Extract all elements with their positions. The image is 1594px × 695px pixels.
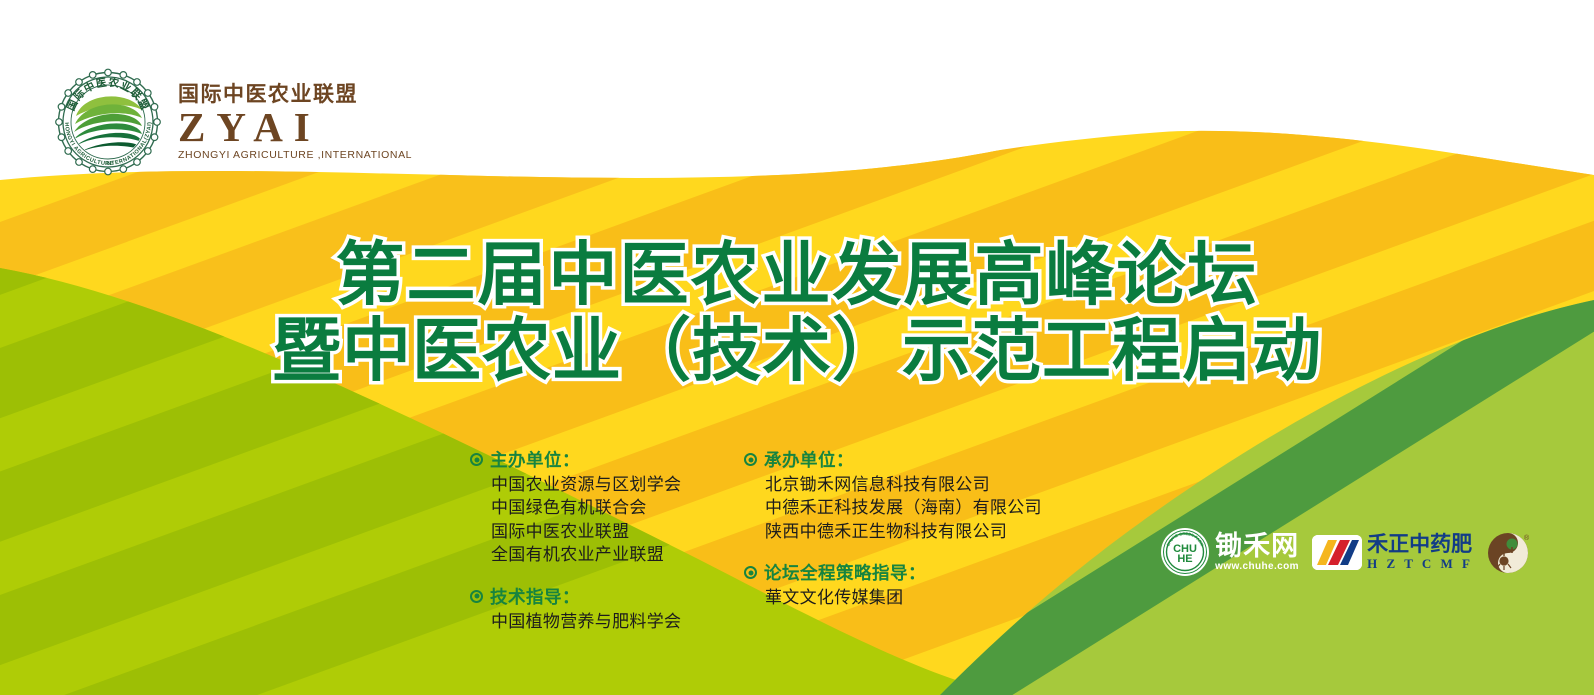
logo-wordmark: 国际中医农业联盟 ZYAI ZHONGYI AGRICULTURE ,INTER… bbox=[178, 84, 412, 160]
group-item-list: 華文文化传媒集团 bbox=[744, 587, 1044, 610]
group-heading-row: 论坛全程策略指导： bbox=[744, 560, 1044, 585]
group-heading-label: 主办单位： bbox=[490, 447, 580, 472]
list-item: 華文文化传媒集团 bbox=[765, 587, 1044, 610]
group-co-organizers: 承办单位： 北京锄禾网信息科技有限公司 中德禾正科技发展（海南）有限公司 陕西中… bbox=[744, 447, 1044, 544]
chuhe-url: www.chuhe.com bbox=[1215, 562, 1299, 572]
group-heading-row: 承办单位： bbox=[744, 447, 1044, 472]
group-item-list: 中国植物营养与肥料学会 bbox=[470, 611, 732, 634]
group-heading-row: 技术指导： bbox=[470, 584, 732, 609]
hztcmf-mark-icon bbox=[1312, 535, 1362, 570]
group-host-organizers: 主办单位： 中国农业资源与区划学会 中国绿色有机联合会 国际中医农业联盟 全国有… bbox=[470, 447, 732, 568]
bullet-icon bbox=[470, 453, 483, 466]
organizers-info: 主办单位： 中国农业资源与区划学会 中国绿色有机联合会 国际中医农业联盟 全国有… bbox=[470, 447, 1044, 634]
sponsor-logos: CHUHE GREEN FARM CHU HE 锄禾网 www.chuhe.co… bbox=[1161, 528, 1532, 576]
tree-root-mark-icon: ® bbox=[1486, 529, 1532, 575]
trademark-symbol: ® bbox=[1524, 534, 1530, 542]
bullet-icon bbox=[744, 453, 757, 466]
sponsor-tree-root: ® bbox=[1486, 529, 1532, 575]
organization-logo: 国际中医农业联盟 ZHONGYI AGRICULTURE INTERNATION… bbox=[52, 66, 412, 178]
zyai-seal-icon: 国际中医农业联盟 ZHONGYI AGRICULTURE INTERNATION… bbox=[52, 66, 164, 178]
hztcmf-name-cn: 禾正中药肥 bbox=[1367, 534, 1473, 555]
logo-acronym: ZYAI bbox=[178, 108, 321, 147]
list-item: 中国绿色有机联合会 bbox=[491, 497, 732, 520]
list-item: 中德禾正科技发展（海南）有限公司 bbox=[765, 497, 1044, 520]
hztcmf-wordmark: 禾正中药肥 H Z T C M F bbox=[1367, 534, 1473, 570]
group-heading-row: 主办单位： bbox=[470, 447, 732, 472]
event-banner: 国际中医农业联盟 ZHONGYI AGRICULTURE INTERNATION… bbox=[0, 0, 1594, 695]
svg-text:HE: HE bbox=[1178, 553, 1193, 565]
hztcmf-name-en: H Z T C M F bbox=[1367, 557, 1473, 570]
bullet-icon bbox=[470, 590, 483, 603]
group-strategy-guidance: 论坛全程策略指导： 華文文化传媒集团 bbox=[744, 560, 1044, 610]
logo-name-en: ZHONGYI AGRICULTURE ,INTERNATIONAL bbox=[178, 150, 412, 161]
group-heading-label: 论坛全程策略指导： bbox=[764, 560, 926, 585]
group-technical-guidance: 技术指导： 中国植物营养与肥料学会 bbox=[470, 584, 732, 634]
list-item: 中国植物营养与肥料学会 bbox=[491, 611, 732, 634]
group-heading-label: 技术指导： bbox=[490, 584, 580, 609]
group-heading-label: 承办单位： bbox=[764, 447, 854, 472]
list-item: 国际中医农业联盟 bbox=[491, 521, 732, 544]
sponsor-chuhe: CHUHE GREEN FARM CHU HE 锄禾网 www.chuhe.co… bbox=[1161, 528, 1299, 576]
chuhe-mark-icon: CHUHE GREEN FARM CHU HE bbox=[1161, 528, 1209, 576]
chuhe-wordmark: 锄禾网 www.chuhe.com bbox=[1215, 533, 1299, 572]
chuhe-name-cn: 锄禾网 bbox=[1215, 533, 1299, 560]
list-item: 中国农业资源与区划学会 bbox=[491, 474, 732, 497]
group-item-list: 中国农业资源与区划学会 中国绿色有机联合会 国际中医农业联盟 全国有机农业产业联… bbox=[470, 474, 732, 568]
group-item-list: 北京锄禾网信息科技有限公司 中德禾正科技发展（海南）有限公司 陕西中德禾正生物科… bbox=[744, 474, 1044, 544]
sponsor-hztcmf: 禾正中药肥 H Z T C M F bbox=[1312, 534, 1473, 570]
organizers-column-left: 主办单位： 中国农业资源与区划学会 中国绿色有机联合会 国际中医农业联盟 全国有… bbox=[470, 447, 732, 634]
list-item: 全国有机农业产业联盟 bbox=[491, 544, 732, 567]
list-item: 北京锄禾网信息科技有限公司 bbox=[765, 474, 1044, 497]
organizers-column-right: 承办单位： 北京锄禾网信息科技有限公司 中德禾正科技发展（海南）有限公司 陕西中… bbox=[744, 447, 1044, 634]
logo-name-cn: 国际中医农业联盟 bbox=[178, 84, 358, 105]
bullet-icon bbox=[744, 566, 757, 579]
list-item: 陕西中德禾正生物科技有限公司 bbox=[765, 521, 1044, 544]
